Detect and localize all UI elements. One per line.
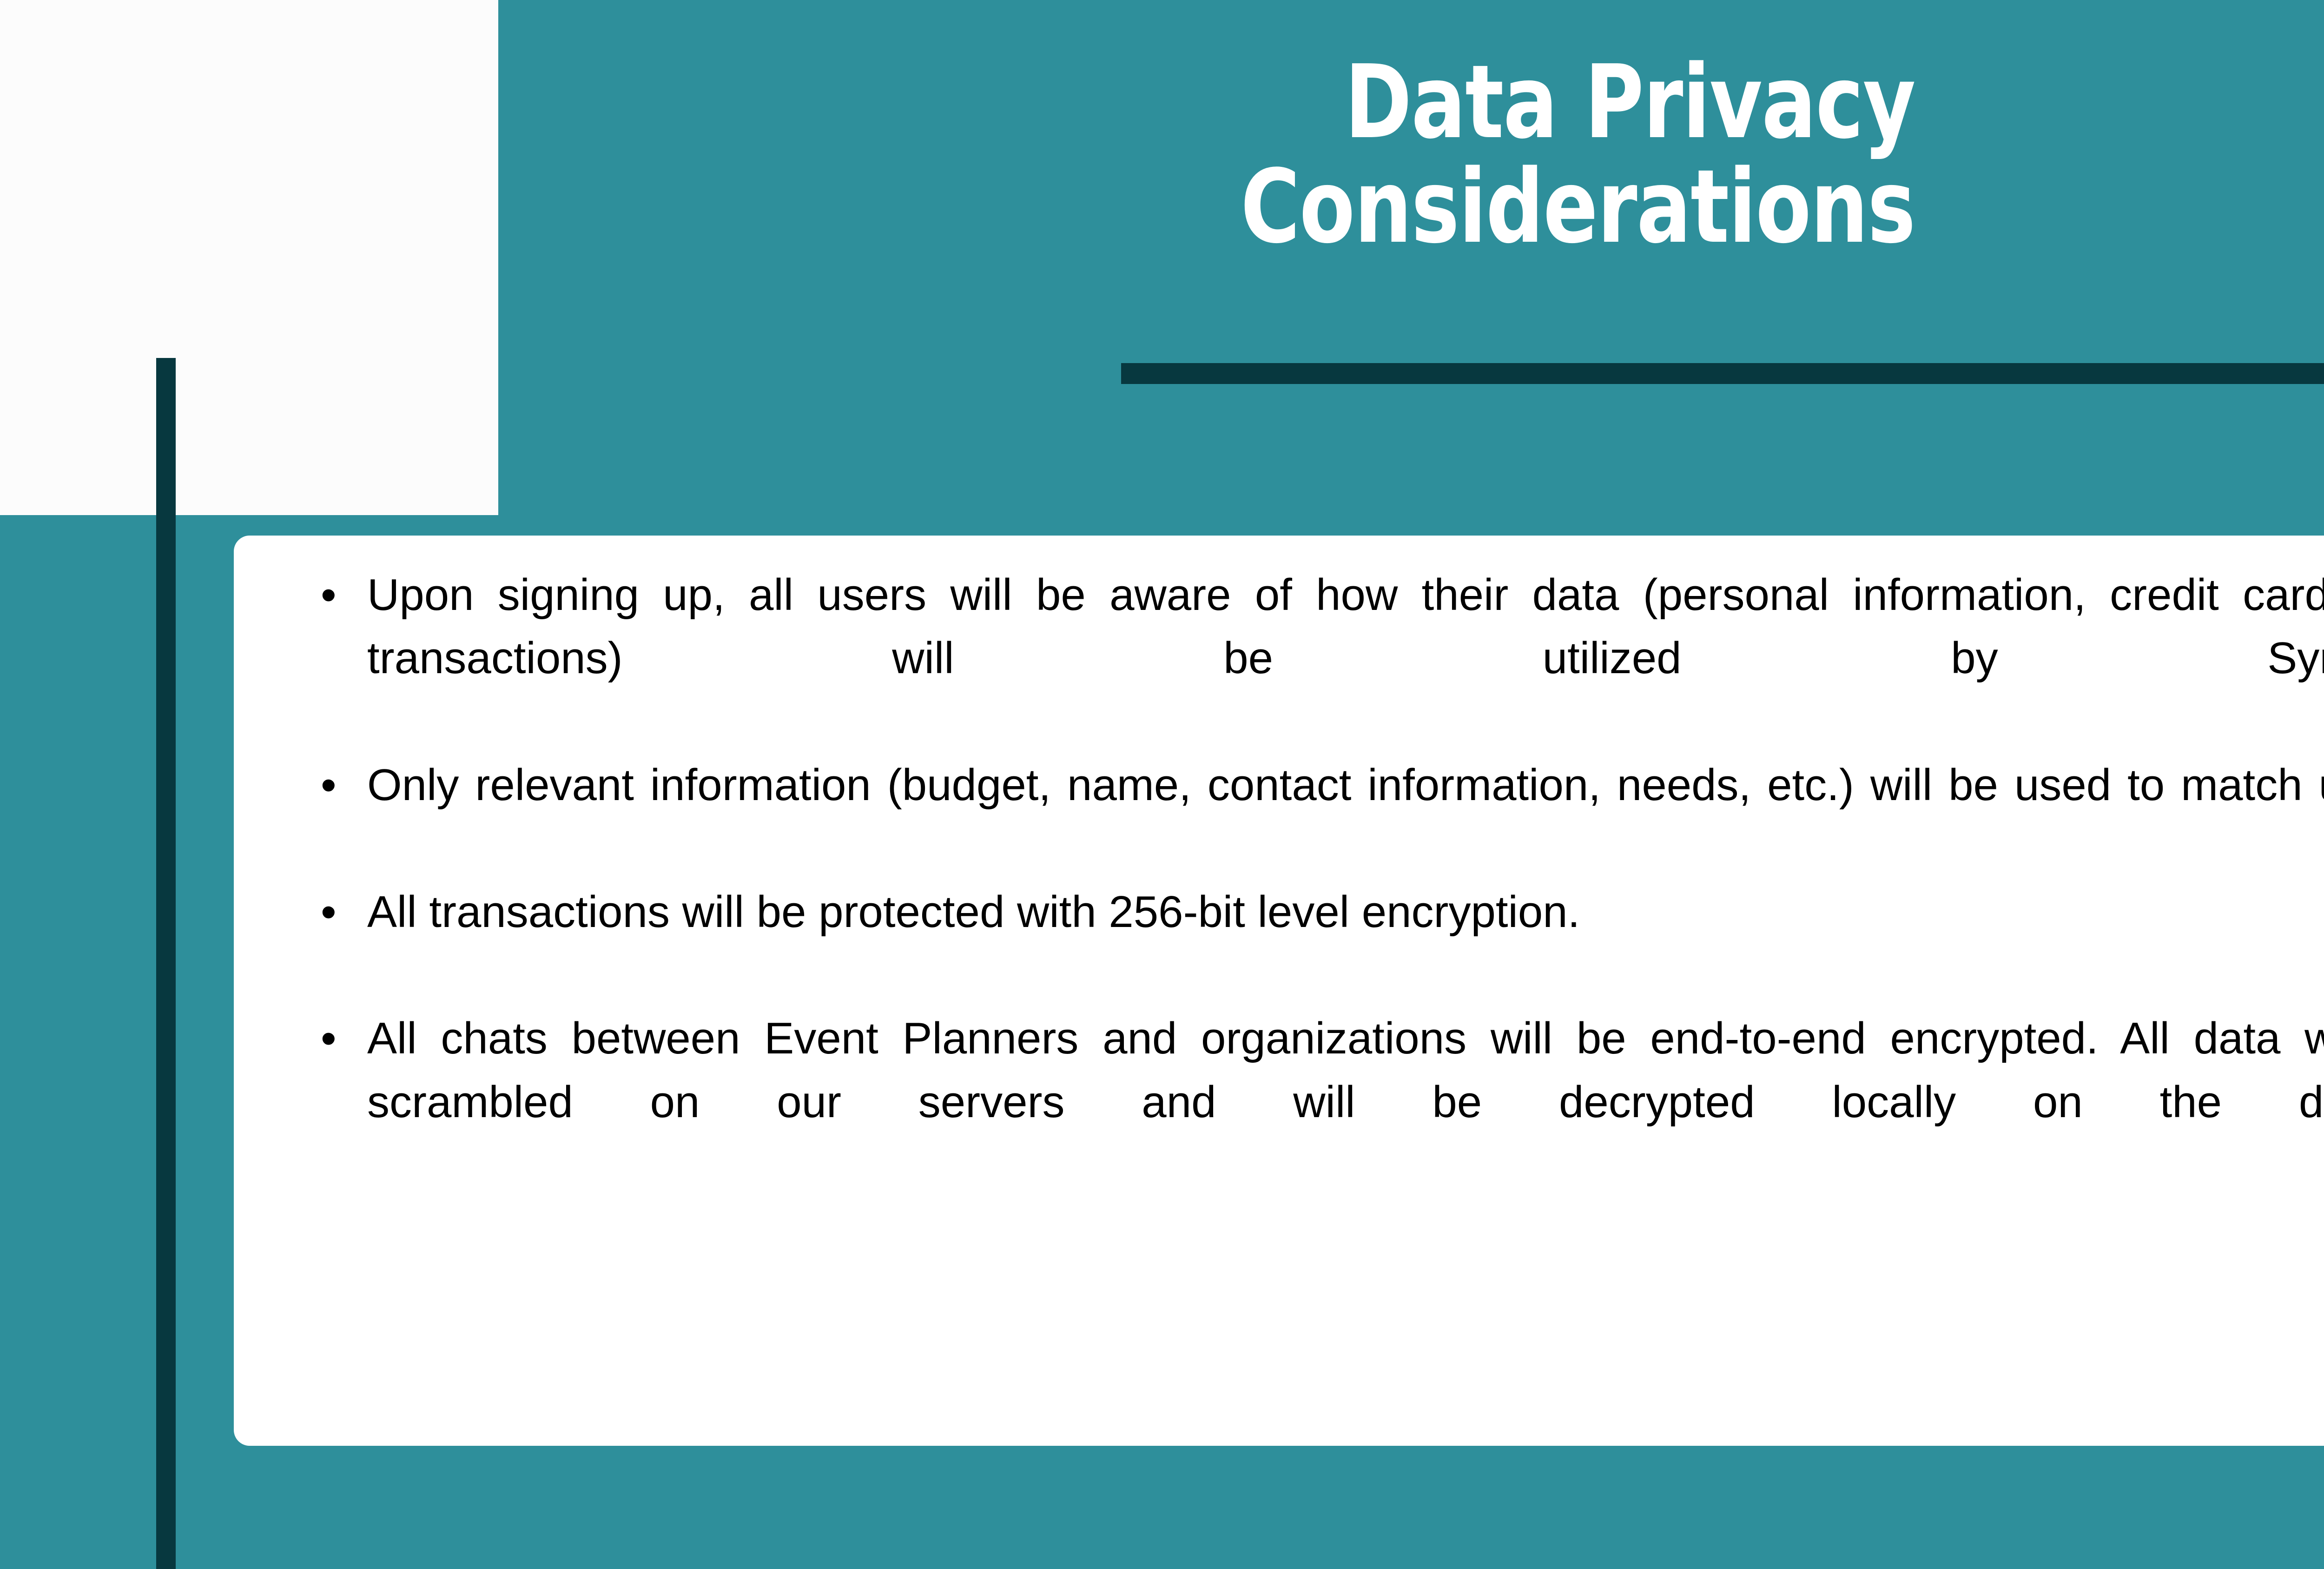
list-item-text: All transactions will be protected with … bbox=[367, 880, 2324, 1007]
page-title: Data Privacy Considerations bbox=[883, 51, 1915, 261]
list-item: • Upon signing up, all users will be awa… bbox=[320, 563, 2324, 754]
bullet-marker-icon: • bbox=[321, 880, 337, 944]
list-item: • Only relevant information (budget, nam… bbox=[320, 754, 2324, 880]
content-card: • Upon signing up, all users will be awa… bbox=[234, 536, 2324, 1446]
title-line-primary: Data Privacy bbox=[1089, 51, 1915, 154]
slide-canvas: Data Privacy Considerations • Upon signi… bbox=[0, 0, 2324, 1569]
bullet-marker-icon: • bbox=[321, 563, 337, 627]
list-item: • All transactions will be protected wit… bbox=[320, 880, 2324, 1007]
bullet-marker-icon: • bbox=[321, 754, 337, 817]
privacy-bullet-list: • Upon signing up, all users will be awa… bbox=[320, 563, 2324, 1197]
decorative-vertical-rule bbox=[156, 358, 176, 1569]
list-item-text: Upon signing up, all users will be aware… bbox=[367, 563, 2324, 754]
bullet-marker-icon: • bbox=[321, 1007, 337, 1070]
list-item: • All chats between Event Planners and o… bbox=[320, 1007, 2324, 1197]
title-line-secondary: Considerations bbox=[1089, 154, 1915, 261]
list-item-text: Only relevant information (budget, name,… bbox=[367, 754, 2324, 880]
decorative-horizontal-rule bbox=[1121, 363, 2324, 384]
decorative-white-block bbox=[0, 0, 498, 515]
list-item-text: All chats between Event Planners and org… bbox=[367, 1007, 2324, 1197]
